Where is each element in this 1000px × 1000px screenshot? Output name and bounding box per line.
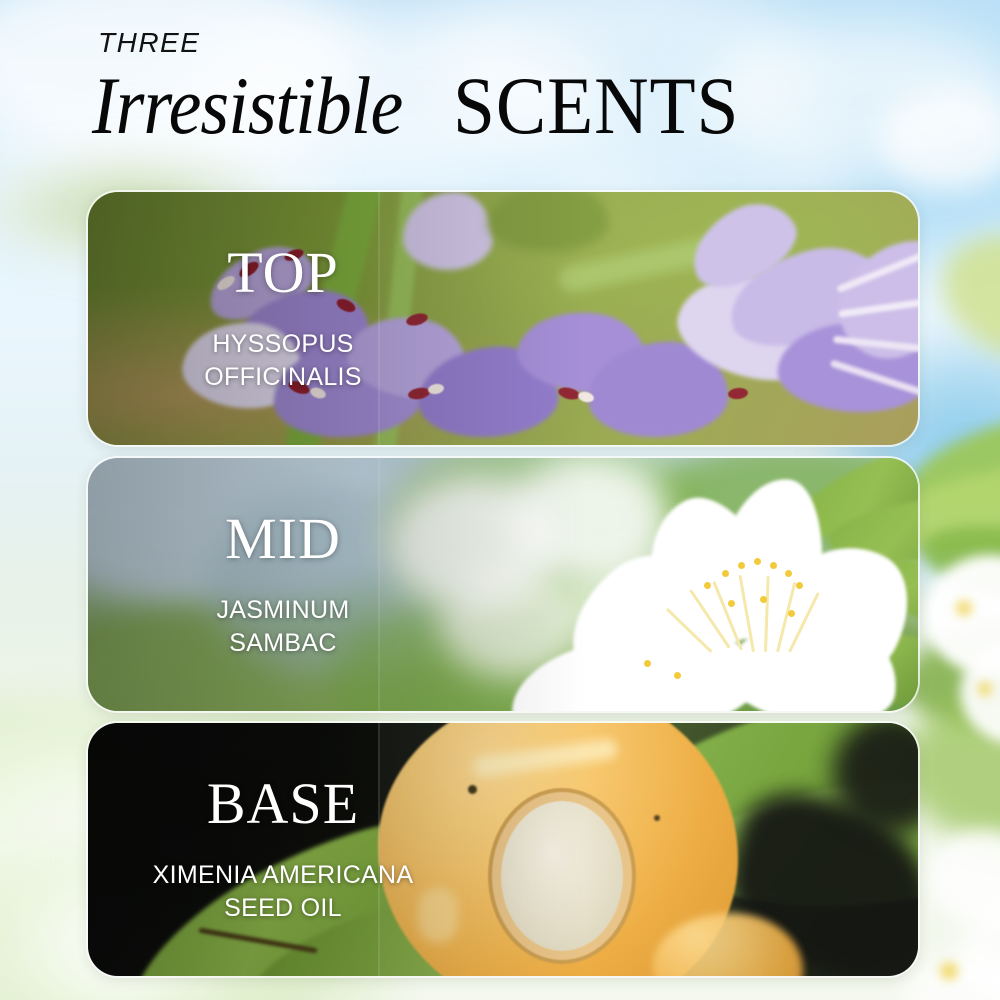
botanical-line-1: XIMENIA AMERICANA <box>153 859 414 892</box>
background-pollen-dot <box>978 682 992 696</box>
background-pollen-dot <box>940 962 958 980</box>
eyebrow-text: THREE <box>98 27 200 59</box>
note-label-base: BASE <box>207 775 359 833</box>
page-title: IrresistibleSCENTS <box>92 62 952 150</box>
headline-italic-word: Irresistible <box>92 62 402 150</box>
botanical-line-2: SAMBAC <box>217 627 350 660</box>
botanical-line-2: SEED OIL <box>153 892 414 925</box>
scent-card-top[interactable]: TOP HYSSOPUS OFFICINALIS <box>88 192 918 445</box>
note-label-mid: MID <box>225 510 341 568</box>
botanical-name-base: XIMENIA AMERICANA SEED OIL <box>153 859 414 925</box>
card-text-block-top: TOP HYSSOPUS OFFICINALIS <box>118 192 448 445</box>
card-text-block-base: BASE XIMENIA AMERICANA SEED OIL <box>98 723 468 976</box>
scent-card-mid[interactable]: MID JASMINUM SAMBAC <box>88 458 918 711</box>
botanical-name-top: HYSSOPUS OFFICINALIS <box>204 328 362 394</box>
botanical-line-1: JASMINUM <box>217 594 350 627</box>
scent-card-base[interactable]: BASE XIMENIA AMERICANA SEED OIL <box>88 723 918 976</box>
botanical-line-2: OFFICINALIS <box>204 361 362 394</box>
headline-caps-word: SCENTS <box>453 62 739 150</box>
botanical-name-mid: JASMINUM SAMBAC <box>217 594 350 660</box>
note-label-top: TOP <box>227 244 339 302</box>
card-text-block-mid: MID JASMINUM SAMBAC <box>118 458 448 711</box>
botanical-line-1: HYSSOPUS <box>204 328 362 361</box>
background-pollen-dot <box>956 600 972 616</box>
